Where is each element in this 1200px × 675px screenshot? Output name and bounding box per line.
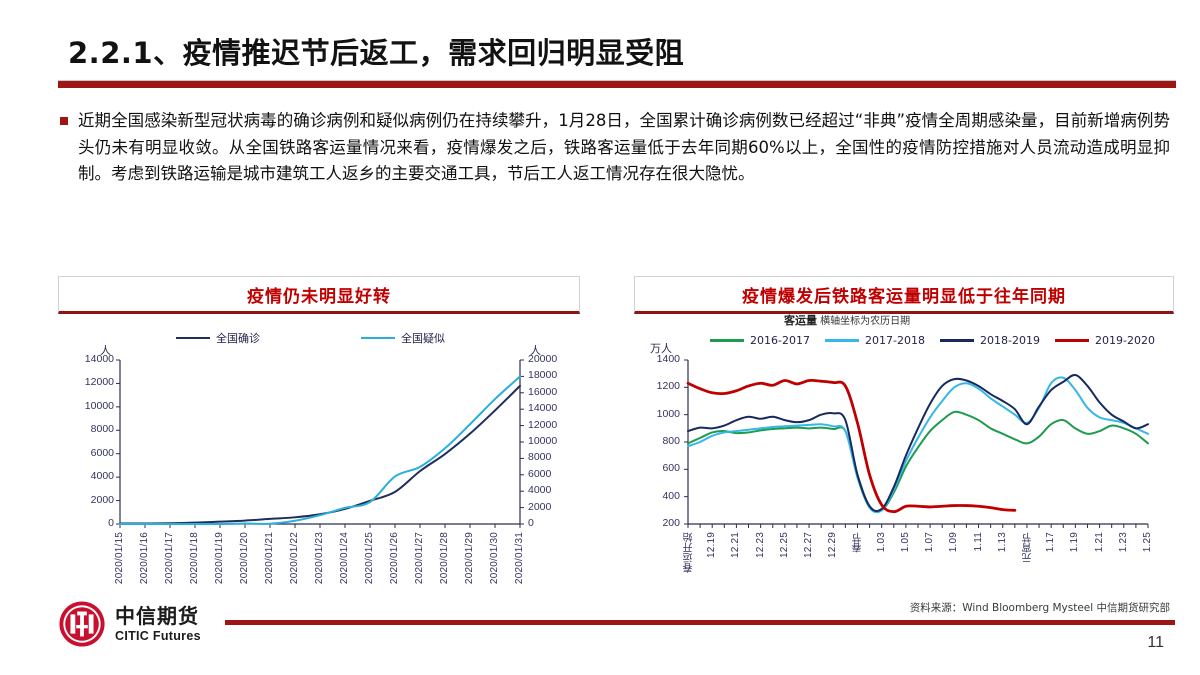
epidemic-xtick: 2020/01/31: [514, 532, 525, 584]
citic-logo-icon: [58, 600, 106, 648]
railway-xtick: 1.21: [1094, 532, 1105, 552]
railway-xtick: 1.19: [1069, 532, 1080, 552]
slide-root: 2.2.1、疫情推迟节后返工，需求回归明显受阻 近期全国感染新型冠状病毒的确诊病…: [0, 0, 1200, 675]
logo-name-en: CITIC Futures: [115, 630, 201, 643]
railway-xtick: 元宵节: [1021, 532, 1036, 563]
epidemic-ytick-right: 0: [528, 517, 576, 529]
logo-name-cn: 中信期货: [115, 606, 201, 626]
epidemic-ytick-right: 2000: [528, 501, 576, 513]
epidemic-yaxis-unit-right: 人: [530, 342, 541, 358]
series-line-2017-2018: [688, 377, 1148, 512]
epidemic-ytick-left: 4000: [66, 470, 114, 482]
legend-item-2017-2018: 2017-2018: [825, 334, 925, 347]
epidemic-xtick: 2020/01/25: [364, 532, 375, 584]
epidemic-xtick: 2020/01/26: [389, 532, 400, 584]
legend-swatch-icon: [361, 337, 395, 340]
railway-xtick: 1.13: [997, 532, 1008, 552]
chart-canvas-epidemic: 1400012000100008000600040002000020000180…: [58, 326, 580, 606]
epidemic-xtick: 2020/01/28: [439, 532, 450, 584]
legend-item-2016-2017: 2016-2017: [710, 334, 810, 347]
epidemic-ytick-left: 10000: [66, 400, 114, 412]
epidemic-yaxis-unit-left: 人: [100, 342, 111, 358]
railway-ytick: 1200: [636, 380, 680, 392]
chart-panel-railway: 疫情爆发后铁路客运量明显低于往年同期 140012001000800600400…: [634, 276, 1174, 606]
railway-xtick: 12.23: [755, 532, 766, 558]
legend-item-2018-2019: 2018-2019: [940, 334, 1040, 347]
railway-xtick: 春节: [851, 532, 866, 552]
epidemic-xtick: 2020/01/19: [214, 532, 225, 584]
legend-label: 全国疑似: [401, 330, 445, 346]
header-divider: [58, 80, 1176, 88]
logo-text: 中信期货 CITIC Futures: [115, 606, 201, 643]
epidemic-xtick: 2020/01/15: [114, 532, 125, 584]
page-number: 11: [1147, 634, 1164, 652]
epidemic-xtick: 2020/01/16: [139, 532, 150, 584]
chart-title-epidemic: 疫情仍未明显好转: [247, 282, 391, 307]
page-title: 2.2.1、疫情推迟节后返工，需求回归明显受阻: [68, 30, 684, 72]
series-line-全国疑似: [120, 377, 520, 525]
citic-futures-logo: 中信期货 CITIC Futures: [58, 600, 201, 648]
legend-label: 2019-2020: [1095, 334, 1155, 347]
railway-subtitle-note: 横轴坐标为农历日期: [817, 316, 910, 327]
epidemic-ytick-right: 18000: [528, 369, 576, 381]
railway-xtick: 1.25: [1142, 532, 1153, 552]
legend-label: 全国确诊: [216, 330, 260, 346]
railway-chart-svg: [634, 326, 1174, 606]
epidemic-xtick: 2020/01/21: [264, 532, 275, 584]
epidemic-xtick: 2020/01/17: [164, 532, 175, 584]
legend-swatch-icon: [710, 339, 744, 342]
railway-yaxis-unit: 万人: [650, 340, 672, 356]
epidemic-xtick: 2020/01/18: [189, 532, 200, 584]
railway-ytick: 800: [636, 435, 680, 447]
chart-canvas-railway: 140012001000800600400200春运开始12.1912.2112…: [634, 326, 1174, 606]
epidemic-xtick: 2020/01/24: [339, 532, 350, 584]
legend-label: 2017-2018: [865, 334, 925, 347]
railway-xtick: 1.05: [900, 532, 911, 552]
epidemic-ytick-right: 14000: [528, 402, 576, 414]
epidemic-ytick-left: 2000: [66, 494, 114, 506]
legend-label: 2016-2017: [750, 334, 810, 347]
legend-item-2019-2020: 2019-2020: [1055, 334, 1155, 347]
series-line-全国确诊: [120, 386, 520, 524]
railway-xtick: 12.25: [779, 532, 790, 558]
railway-ytick: 1000: [636, 408, 680, 420]
epidemic-xtick: 2020/01/22: [289, 532, 300, 584]
railway-xtick: 1.03: [876, 532, 887, 552]
epidemic-ytick-right: 8000: [528, 451, 576, 463]
legend-swatch-icon: [825, 339, 859, 342]
legend-swatch-icon: [176, 337, 210, 340]
epidemic-ytick-right: 10000: [528, 435, 576, 447]
epidemic-ytick-left: 8000: [66, 423, 114, 435]
legend-item-全国疑似: 全国疑似: [361, 330, 445, 346]
epidemic-ytick-right: 4000: [528, 484, 576, 496]
railway-xtick: 1.11: [973, 532, 984, 552]
epidemic-xtick: 2020/01/29: [464, 532, 475, 584]
epidemic-ytick-left: 12000: [66, 376, 114, 388]
railway-ytick: 600: [636, 462, 680, 474]
epidemic-ytick-left: 0: [66, 517, 114, 529]
railway-ytick: 200: [636, 517, 680, 529]
railway-xtick: 12.21: [730, 532, 741, 558]
legend-item-全国确诊: 全国确诊: [176, 330, 260, 346]
chart-title-railway: 疫情爆发后铁路客运量明显低于往年同期: [742, 282, 1066, 307]
chart-title-box-railway: 疫情爆发后铁路客运量明显低于往年同期: [634, 276, 1174, 314]
source-note: 资料来源：Wind Bloomberg Mysteel 中信期货研究部: [910, 600, 1170, 615]
railway-ytick: 400: [636, 490, 680, 502]
railway-xtick: 1.23: [1118, 532, 1129, 552]
railway-xtick: 1.07: [924, 532, 935, 552]
bullet-paragraph: 近期全国感染新型冠状病毒的确诊病例和疑似病例仍在持续攀升，1月28日，全国累计确…: [60, 108, 1170, 188]
chart-title-box-epidemic: 疫情仍未明显好转: [58, 276, 580, 314]
legend-label: 2018-2019: [980, 334, 1040, 347]
railway-xtick: 12.19: [706, 532, 717, 558]
epidemic-xtick: 2020/01/20: [239, 532, 250, 584]
chart-panel-epidemic: 疫情仍未明显好转 1400012000100008000600040002000…: [58, 276, 580, 606]
epidemic-xtick: 2020/01/23: [314, 532, 325, 584]
epidemic-ytick-left: 6000: [66, 447, 114, 459]
bullet-paragraph-text: 近期全国感染新型冠状病毒的确诊病例和疑似病例仍在持续攀升，1月28日，全国累计确…: [78, 108, 1170, 188]
legend-swatch-icon: [1055, 339, 1089, 342]
railway-subtitle: 客运量 横轴坐标为农历日期: [784, 312, 910, 328]
bullet-square-icon: [60, 117, 68, 125]
epidemic-ytick-right: 16000: [528, 386, 576, 398]
railway-xtick: 12.27: [803, 532, 814, 558]
epidemic-xtick: 2020/01/30: [489, 532, 500, 584]
legend-swatch-icon: [940, 339, 974, 342]
footer-divider: [225, 620, 1175, 625]
railway-xtick: 春运开始: [682, 532, 697, 573]
epidemic-ytick-right: 12000: [528, 419, 576, 431]
railway-xtick: 1.17: [1045, 532, 1056, 552]
railway-xtick: 1.09: [948, 532, 959, 552]
railway-subtitle-metric: 客运量: [784, 314, 817, 327]
railway-xtick: 12.29: [827, 532, 838, 558]
epidemic-ytick-right: 6000: [528, 468, 576, 480]
epidemic-xtick: 2020/01/27: [414, 532, 425, 584]
